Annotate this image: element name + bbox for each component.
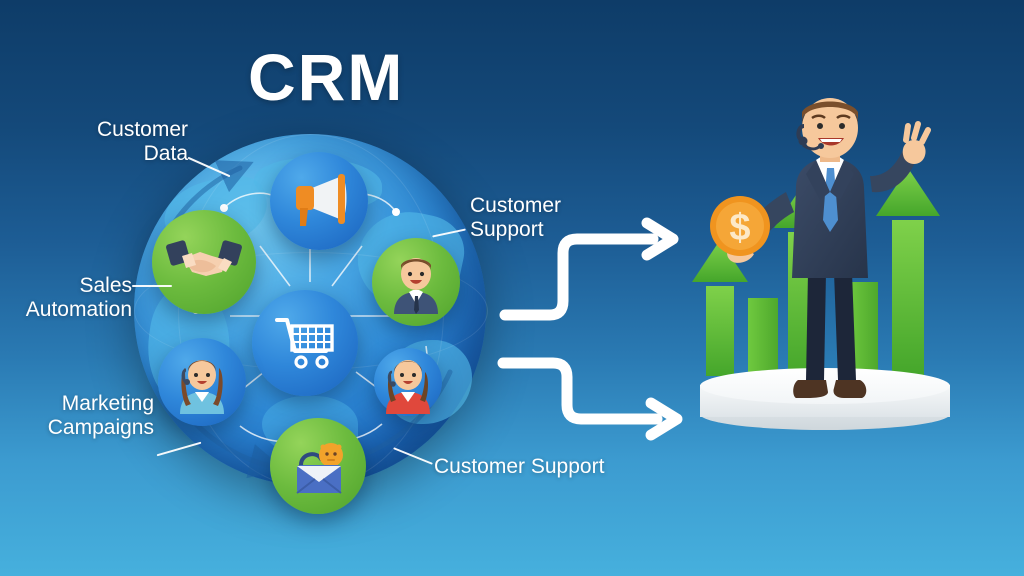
megaphone-icon [286,172,352,230]
label-marketing-campaigns: Marketing Campaigns [36,392,154,440]
node-handshake[interactable] [152,210,256,314]
node-megaphone[interactable] [270,152,368,250]
coin-symbol: $ [729,207,750,249]
label-sales-automation: Sales Automation [18,274,132,322]
female-agent-icon [168,348,236,416]
node-email-money[interactable] [270,418,366,514]
handshake-icon [166,236,242,288]
leader-line-marketing-campaigns [157,442,202,457]
flow-arrow-up [505,239,653,315]
eye-left [817,123,823,129]
email-money-icon [283,435,353,497]
eye-right [839,123,845,129]
infographic-canvas: CRM [0,0,1024,576]
shoe-left [793,380,828,398]
label-customer-support-bottom: Customer Support [434,455,634,479]
shoe-right [833,380,866,398]
female-customer-icon [374,348,442,416]
leg-right [834,272,856,380]
node-businessman[interactable] [372,238,460,326]
flow-arrow-down [503,363,657,419]
businessman-character: $ [700,96,960,406]
page-title: CRM [248,44,404,110]
label-customer-data: Customer Data [68,118,188,166]
shopping-cart-icon [274,314,336,372]
label-customer-support-top: Customer Support [470,194,590,242]
leader-line-sales-automation [132,285,172,287]
businessman-icon [382,248,450,316]
node-female-agent[interactable] [158,338,246,426]
node-shopping-cart[interactable] [252,290,358,396]
leg-left [806,272,826,380]
node-female-customer[interactable] [374,348,442,416]
